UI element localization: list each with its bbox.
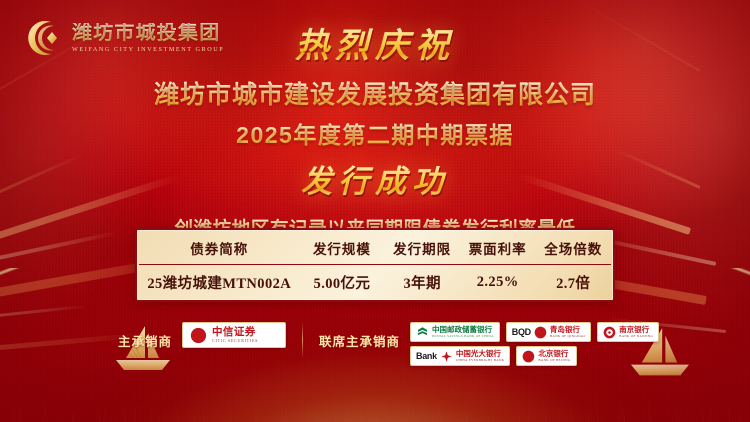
bond-table-header-3: 发行期限 <box>384 232 460 264</box>
celebration-banner: 潍坊市城投集团 WEIFANG CITY INVESTMENT GROUP 热烈… <box>0 0 750 422</box>
citic-emblem-card[interactable]: 中信证券CITIC SECURITIES <box>182 322 286 348</box>
bank-abbr: BQD <box>512 327 531 337</box>
underwriter-divider <box>302 322 303 358</box>
bank-name-cn: 青岛银行 <box>550 326 585 334</box>
bond-table-header-row: 债券简称发行规模发行期限票面利率全场倍数 <box>139 232 611 264</box>
everbright-bank-card[interactable]: Bank中国光大银行CHINA EVERBRIGHT BANK <box>410 346 510 366</box>
underwriter-strip: 主承销商 中信证券CITIC SECURITIES 联席主承销商 中国邮政储蓄银… <box>118 322 659 366</box>
citic-emblem-icon <box>190 327 207 344</box>
bond-table-header-2: 发行规模 <box>299 232 384 264</box>
perspective-grid <box>0 398 750 422</box>
logo-row: 中信证券CITIC SECURITIES <box>182 322 286 348</box>
bond-table-header-5: 全场倍数 <box>535 232 611 264</box>
bank-name-cn: 中国光大银行 <box>456 350 505 358</box>
qingdao-bank-icon <box>534 326 547 339</box>
bond-table: 债券简称发行规模发行期限票面利率全场倍数 25潍坊城建MTN002A5.00亿元… <box>139 232 611 300</box>
bond-table-cell-5: 2.7倍 <box>535 264 611 300</box>
bank-name-en: BANK OF BEIJING <box>538 359 570 362</box>
qingdao-bank-card[interactable]: BQD青岛银行BANK OF QINGDAO <box>506 322 591 342</box>
bond-table-cell-1: 25潍坊城建MTN002A <box>139 264 299 300</box>
brand-name-en: WEIFANG CITY INVESTMENT GROUP <box>72 47 224 53</box>
headline-issue: 2025年度第二期中期票据 <box>0 116 750 150</box>
bank-name-en: CHINA EVERBRIGHT BANK <box>456 359 505 362</box>
bond-table-cell-2: 5.00亿元 <box>299 264 384 300</box>
bank-name-cn: 南京银行 <box>619 326 653 334</box>
bond-table-frame: 债券简称发行规模发行期限票面利率全场倍数 25潍坊城建MTN002A5.00亿元… <box>135 228 615 302</box>
brand-logo: 潍坊市城投集团 WEIFANG CITY INVESTMENT GROUP <box>24 18 224 58</box>
nanjing-bank-icon <box>603 326 616 339</box>
logo-row: 中国邮政储蓄银行POSTAL SAVINGS BANK OF CHINABQD青… <box>410 322 659 342</box>
bank-name-cn: 中信证券 <box>212 327 258 338</box>
crescent-diamond-logo-icon <box>24 18 64 58</box>
joint-underwriter-label: 联席主承销商 <box>319 322 400 350</box>
bond-table-cell-4: 2.25% <box>460 264 536 300</box>
table-row: 25潍坊城建MTN002A5.00亿元3年期2.25%2.7倍 <box>139 264 611 300</box>
bond-table-header-4: 票面利率 <box>460 232 536 264</box>
bank-abbr: Bank <box>416 351 437 361</box>
bond-table-body: 25潍坊城建MTN002A5.00亿元3年期2.25%2.7倍 <box>139 264 611 300</box>
bank-name-en: POSTAL SAVINGS BANK OF CHINA <box>432 335 494 338</box>
bank-name-cn: 中国邮政储蓄银行 <box>432 326 494 334</box>
brand-name-cn: 潍坊市城投集团 <box>72 23 224 43</box>
bank-name-en: BANK OF QINGDAO <box>550 335 585 338</box>
logo-row: Bank中国光大银行CHINA EVERBRIGHT BANK北京银行BANK … <box>410 346 659 366</box>
bank-name-en: BANK OF NANJING <box>619 335 653 338</box>
postal-savings-card[interactable]: 中国邮政储蓄银行POSTAL SAVINGS BANK OF CHINA <box>410 322 500 342</box>
headline-company: 潍坊市城市建设发展投资集团有限公司 <box>0 75 750 111</box>
beijing-bank-icon <box>522 350 535 363</box>
bond-table-header-1: 债券简称 <box>139 232 299 264</box>
bank-name-en: CITIC SECURITIES <box>212 339 258 343</box>
headline-success: 发行成功 <box>0 156 750 201</box>
nanjing-bank-card[interactable]: 南京银行BANK OF NANJING <box>597 322 659 342</box>
lead-underwriter-label: 主承销商 <box>118 322 172 350</box>
everbright-bank-icon <box>440 350 453 363</box>
lead-underwriter-logos: 中信证券CITIC SECURITIES <box>182 322 286 348</box>
joint-underwriter-logos: 中国邮政储蓄银行POSTAL SAVINGS BANK OF CHINABQD青… <box>410 322 659 366</box>
postal-savings-icon <box>416 326 429 339</box>
horizon-dots <box>207 408 543 422</box>
bank-name-cn: 北京银行 <box>538 350 570 358</box>
bond-table-cell-3: 3年期 <box>384 264 460 300</box>
ray-streak-4 <box>0 304 89 321</box>
beijing-bank-card[interactable]: 北京银行BANK OF BEIJING <box>516 346 576 366</box>
